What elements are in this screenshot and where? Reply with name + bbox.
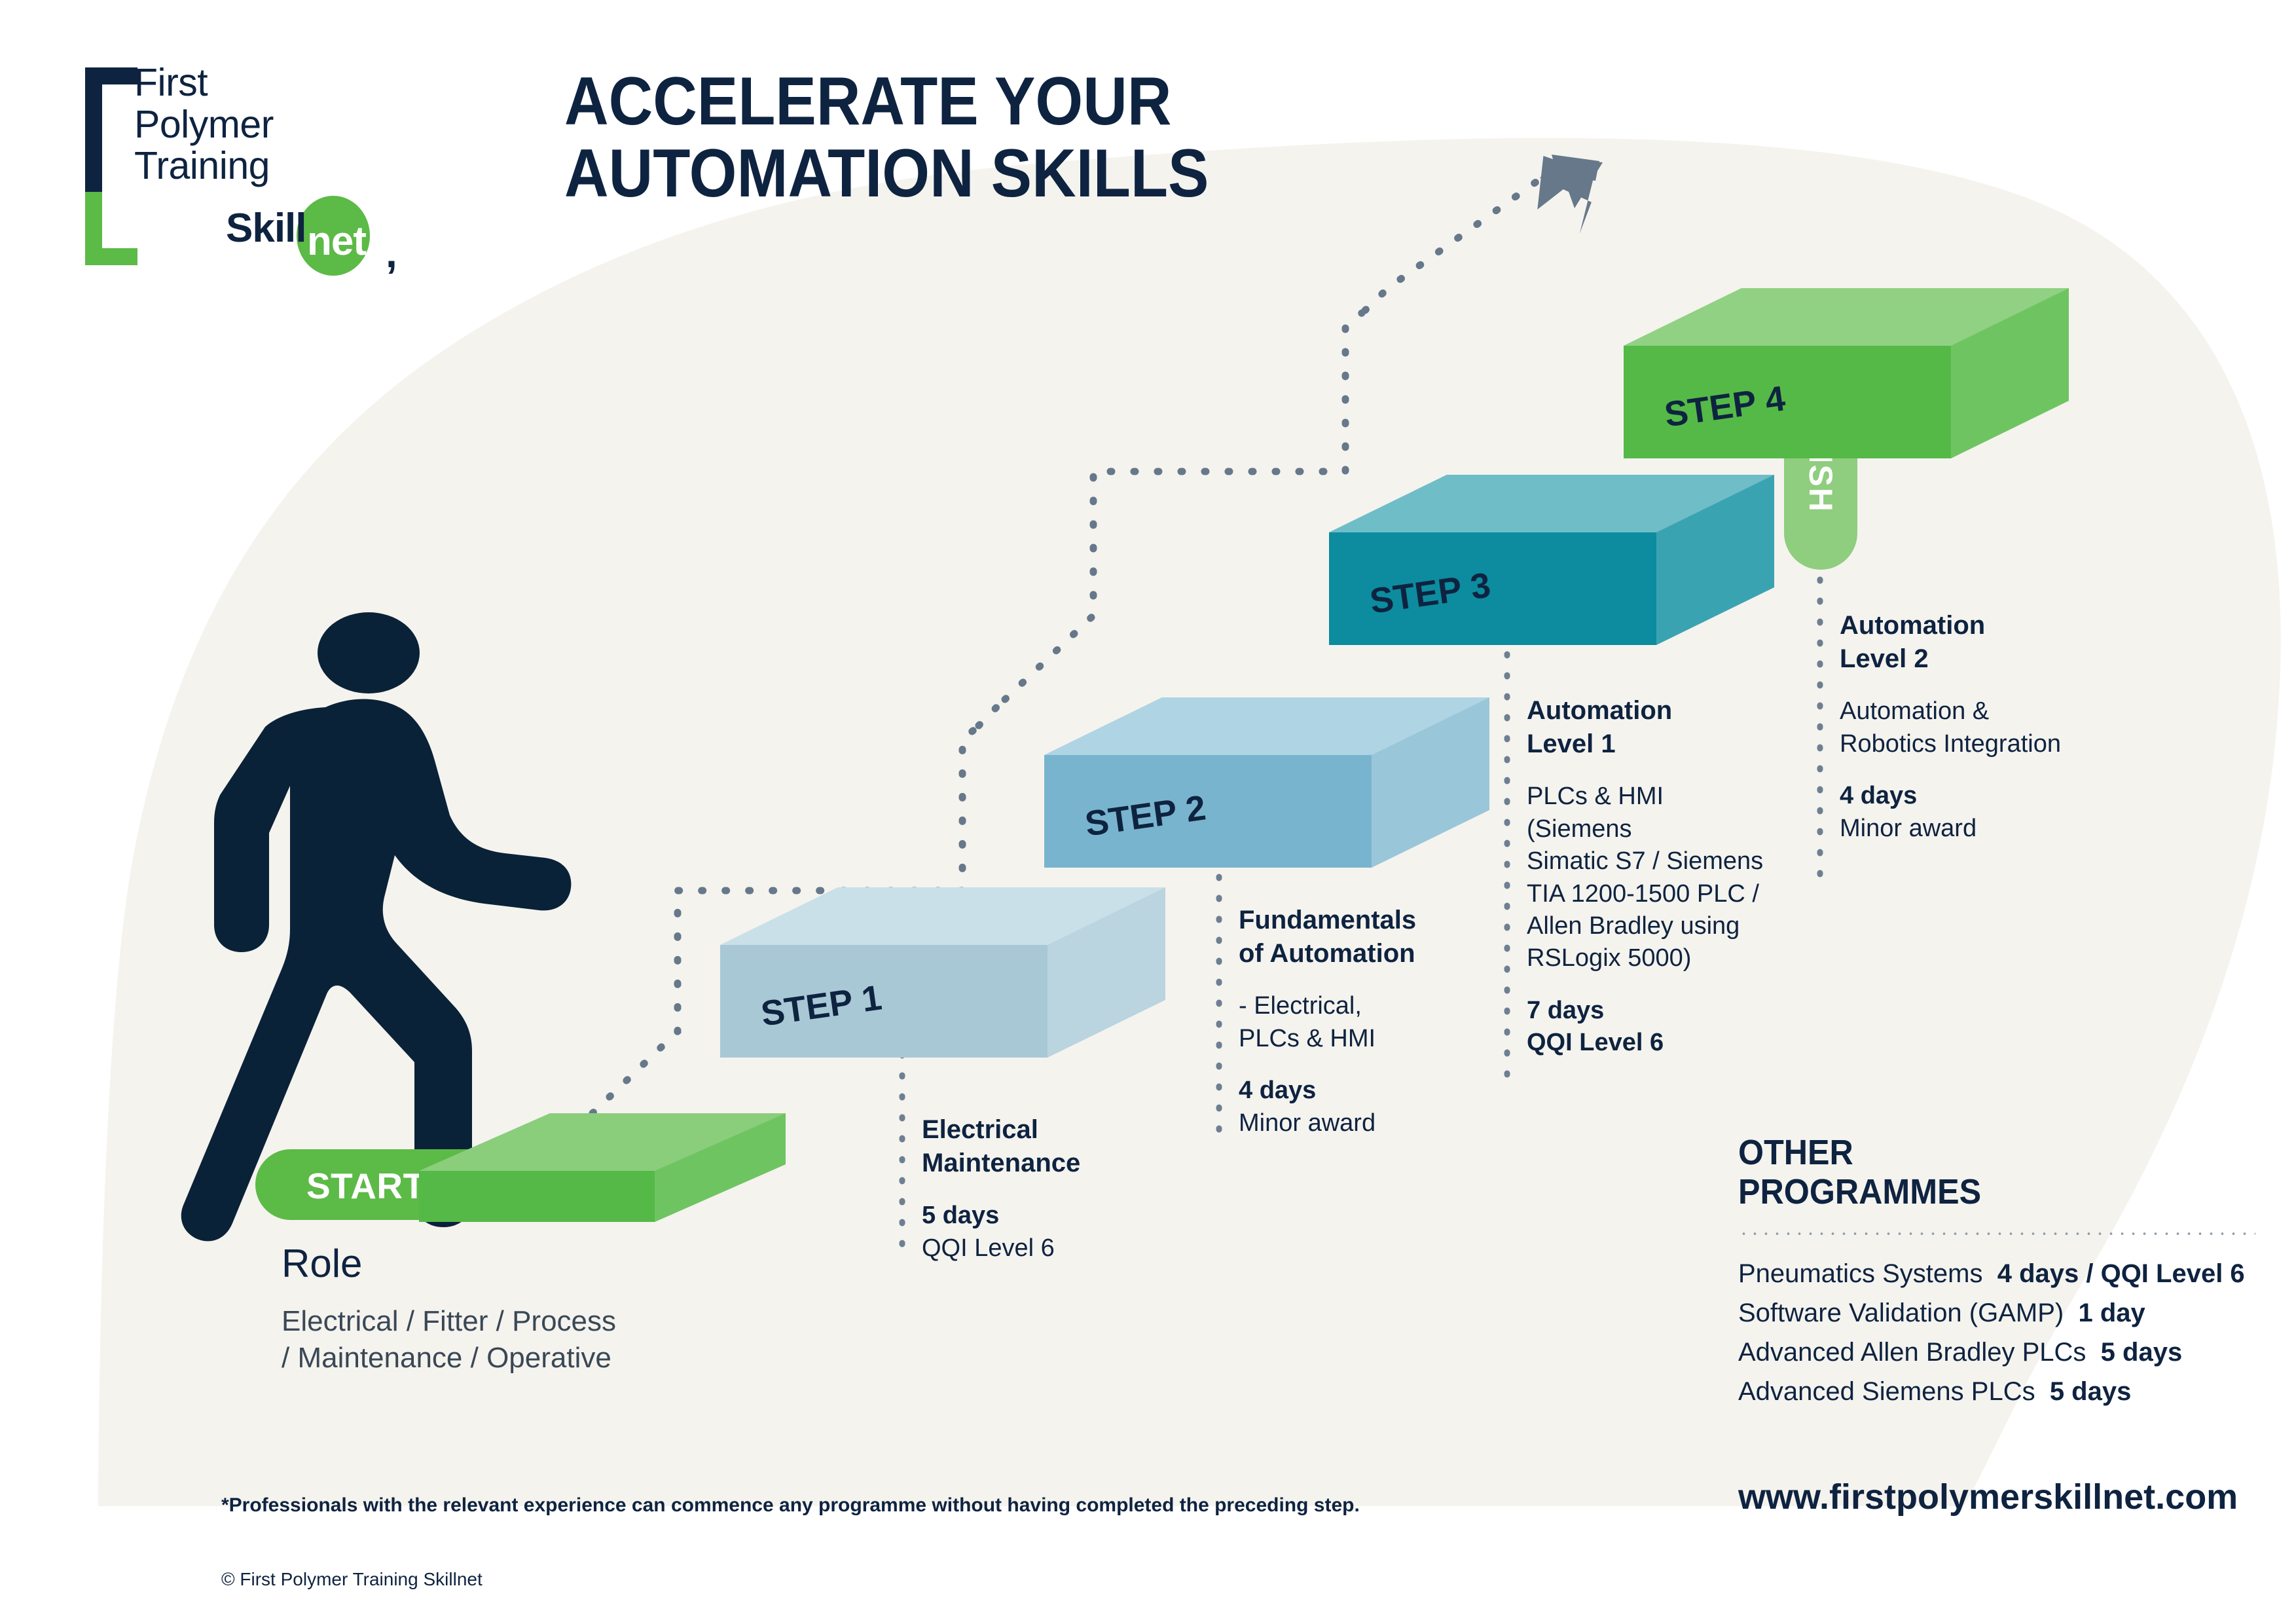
logo-wordmark: First Polymer Training [134, 62, 274, 187]
other-programmes-divider [1738, 1232, 2255, 1236]
programme-name: Software Validation (GAMP) [1738, 1299, 2064, 1327]
step-1-title-line-2: Maintenance [922, 1147, 1184, 1180]
step-1-award: QQI Level 6 [922, 1234, 1055, 1262]
list-item: Software Validation (GAMP) 1 day [1738, 1293, 2255, 1333]
skillnet-comma: , [386, 229, 397, 277]
step-2-block[interactable]: STEP 2 [1044, 697, 1489, 894]
role-line-2: / Maintenance / Operative [282, 1342, 611, 1374]
page-title-line-2: AUTOMATION SKILLS [564, 138, 1209, 210]
logo-line-3: Training [134, 145, 274, 187]
page-title: ACCELERATE YOUR AUTOMATION SKILLS [564, 65, 1209, 210]
step-3-body: PLCs & HMI (Siemens Simatic S7 / Siemens… [1527, 781, 1802, 974]
programme-detail: 5 days [2050, 1377, 2132, 1406]
step-2-note: Fundamentals of Automation - Electrical,… [1239, 904, 1501, 1139]
step-4-body: Automation & Robotics Integration [1840, 695, 2115, 760]
role-heading: Role [282, 1241, 616, 1286]
programme-name: Pneumatics Systems [1738, 1259, 1982, 1288]
step-1-note: Electrical Maintenance 5 days QQI Level … [922, 1113, 1184, 1264]
page-title-line-1: ACCELERATE YOUR [564, 65, 1209, 138]
copyright: © First Polymer Training Skillnet [221, 1569, 483, 1590]
other-programmes-section: OTHER PROGRAMMES Pneumatics Systems 4 da… [1738, 1133, 2255, 1411]
step-1-block[interactable]: STEP 1 [720, 887, 1165, 1084]
step-4-title-line-1: Automation [1840, 609, 2115, 642]
list-item: Pneumatics Systems 4 days / QQI Level 6 [1738, 1254, 2255, 1293]
role-line-1: Electrical / Fitter / Process [282, 1305, 616, 1337]
skillnet-skill-text: Skill [226, 206, 306, 251]
step-2-title-line-2: of Automation [1239, 937, 1501, 970]
list-item: Advanced Siemens PLCs 5 days [1738, 1372, 2255, 1411]
step-2-duration: 4 days [1239, 1077, 1316, 1104]
step-3-note: Automation Level 1 PLCs & HMI (Siemens S… [1527, 694, 1802, 1060]
step-3-title-line-2: Level 1 [1527, 728, 1802, 761]
step-4-block[interactable]: STEP 4 [1624, 288, 2069, 485]
step-4-award: Minor award [1840, 815, 1977, 842]
logo-line-2: Polymer [134, 104, 274, 146]
list-item: Advanced Allen Bradley PLCs 5 days [1738, 1333, 2255, 1372]
step-2-award: Minor award [1239, 1109, 1376, 1137]
role-section: Role Electrical / Fitter / Process / Mai… [282, 1241, 616, 1377]
start-label: START [306, 1165, 426, 1207]
logo-line-1: First [134, 62, 274, 104]
website-url[interactable]: www.firstpolymerskillnet.com [1738, 1477, 2238, 1517]
other-programmes-heading-line-1: OTHER [1738, 1133, 1853, 1172]
infographic-canvas: First Polymer Training Skill net , ACCEL… [0, 0, 2296, 1624]
step-1-duration: 5 days [922, 1202, 999, 1229]
programme-name: Advanced Siemens PLCs [1738, 1377, 2035, 1406]
step-1-title-line-1: Electrical [922, 1113, 1184, 1147]
brand-logo: First Polymer Training Skill net , [85, 62, 491, 278]
skillnet-logo: Skill net , [226, 205, 306, 268]
programme-detail: 1 day [2078, 1299, 2145, 1327]
step-3-duration: 7 days [1527, 997, 1604, 1024]
step-4-title-line-2: Level 2 [1840, 642, 2115, 676]
step-3-award: QQI Level 6 [1527, 1029, 1664, 1056]
programme-name: Advanced Allen Bradley PLCs [1738, 1338, 2086, 1367]
step-2-body: - Electrical, PLCs & HMI [1239, 990, 1501, 1055]
programme-detail: 4 days / QQI Level 6 [1997, 1259, 2245, 1288]
step-4-note: Automation Level 2 Automation & Robotics… [1840, 609, 2115, 845]
programme-detail: 5 days [2101, 1338, 2183, 1367]
skillnet-net-text: net [307, 218, 366, 265]
logo-bracket-icon [85, 67, 102, 264]
step-3-title-line-1: Automation [1527, 694, 1802, 728]
footnote: *Professionals with the relevant experie… [221, 1494, 1360, 1517]
step-4-duration: 4 days [1840, 782, 1917, 809]
step-2-title-line-1: Fundamentals [1239, 904, 1501, 937]
step-3-block[interactable]: STEP 3 [1329, 475, 1774, 671]
other-programmes-heading-line-2: PROGRAMMES [1738, 1172, 1981, 1211]
